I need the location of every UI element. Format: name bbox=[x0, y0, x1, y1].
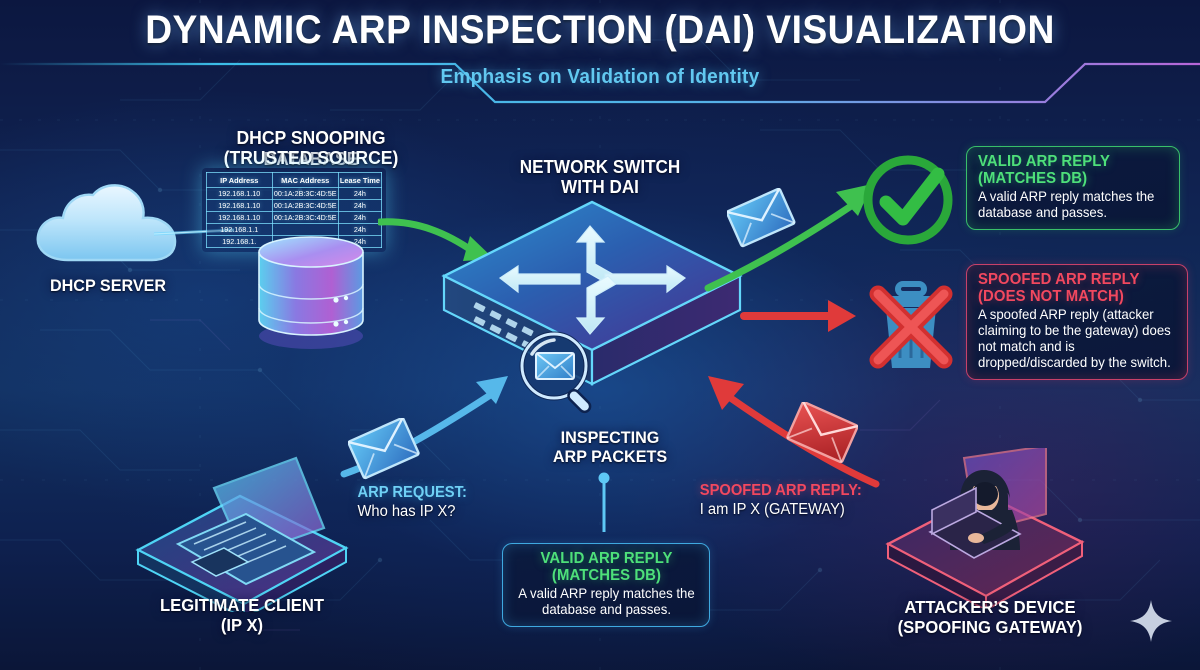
cell-mac: 00:1A:2B:3C:4D:5E bbox=[272, 200, 338, 212]
table-row: 192.168.1.10 00:1A:2B:3C:4D:5E 24h bbox=[207, 212, 382, 224]
green-check-circle-icon bbox=[856, 148, 960, 252]
client-label-line1: LEGITIMATE CLIENT bbox=[128, 596, 356, 616]
page-title: DYNAMIC ARP INSPECTION (DAI) VISUALIZATI… bbox=[42, 8, 1158, 53]
cell-ip: 192.168.1.10 bbox=[207, 212, 273, 224]
callout-spoofed-title-line1: SPOOFED ARP REPLY bbox=[978, 272, 1169, 289]
table-row: 192.168.1.10 00:1A:2B:3C:4D:5E 24h bbox=[207, 200, 382, 212]
dhcp-server-label: DHCP SERVER bbox=[17, 276, 199, 295]
table-row: 192.168.1.10 00:1A:2B:3C:4D:5E 24h bbox=[207, 188, 382, 200]
cell-lease: 24h bbox=[338, 200, 381, 212]
callout-valid-title-line2: (MATCHES DB) bbox=[978, 171, 1161, 188]
column-header-mac: MAC Address bbox=[272, 173, 338, 188]
database-cylinder-icon bbox=[256, 228, 366, 353]
infographic-canvas: DYNAMIC ARP INSPECTION (DAI) VISUALIZATI… bbox=[0, 0, 1200, 670]
callout-bottom-title-line1: VALID ARP REPLY bbox=[518, 551, 696, 568]
spoofed-reply-envelope-icon bbox=[786, 402, 858, 464]
sparkle-icon bbox=[1130, 600, 1172, 642]
client-label-line2: (IP X) bbox=[128, 616, 356, 636]
attacker-label-line1: ATTACKER’S DEVICE bbox=[867, 598, 1114, 618]
hacker-icon bbox=[880, 448, 1090, 608]
switch-label-line1: NETWORK SWITCH bbox=[477, 157, 724, 177]
arp-request-title: ARP REQUEST: bbox=[358, 484, 567, 501]
trash-red-x-icon bbox=[858, 272, 964, 378]
column-header-lease: Lease Time bbox=[338, 173, 381, 188]
cell-ip: 192.168.1.10 bbox=[207, 188, 273, 200]
column-header-ip: IP Address bbox=[207, 173, 273, 188]
callout-spoofed-title-line2: (DOES NOT MATCH) bbox=[978, 289, 1169, 306]
attacker-label-line2: (SPOOFING GATEWAY) bbox=[867, 618, 1114, 638]
cell-lease: 24h bbox=[338, 212, 381, 224]
callout-valid-title-line1: VALID ARP REPLY bbox=[978, 154, 1161, 171]
callout-bottom-body: A valid ARP reply matches the database a… bbox=[517, 586, 696, 618]
callout-valid-body: A valid ARP reply matches the database a… bbox=[978, 189, 1163, 221]
laptop-icon bbox=[128, 452, 358, 612]
page-subtitle: Emphasis on Validation of Identity bbox=[30, 66, 1170, 89]
callout-valid-arp-reply: VALID ARP REPLY (MATCHES DB) A valid ARP… bbox=[966, 146, 1180, 230]
callout-spoofed-body: A spoofed ARP reply (attacker claiming t… bbox=[978, 307, 1171, 371]
table-header-row: IP Address MAC Address Lease Time bbox=[207, 173, 382, 188]
subtitle-banner: Emphasis on Validation of Identity bbox=[0, 62, 1200, 104]
inspecting-connector-icon bbox=[596, 470, 616, 534]
valid-reply-envelope-icon bbox=[727, 188, 797, 248]
database-title-line2: (TRUSTED SOURCE) bbox=[192, 148, 430, 169]
callout-bottom-title-line2: (MATCHES DB) bbox=[518, 568, 696, 585]
arp-request-envelope-icon bbox=[348, 418, 420, 480]
callout-valid-arp-reply-bottom: VALID ARP REPLY (MATCHES DB) A valid ARP… bbox=[502, 543, 710, 627]
header: DYNAMIC ARP INSPECTION (DAI) VISUALIZATI… bbox=[0, 0, 1200, 104]
switch-to-drop-arrow-icon bbox=[740, 296, 860, 336]
cell-mac: 00:1A:2B:3C:4D:5E bbox=[272, 188, 338, 200]
cell-lease: 24h bbox=[338, 188, 381, 200]
cell-mac: 00:1A:2B:3C:4D:5E bbox=[272, 212, 338, 224]
cell-ip: 192.168.1.10 bbox=[207, 200, 273, 212]
callout-spoofed-arp-reply: SPOOFED ARP REPLY (DOES NOT MATCH) A spo… bbox=[966, 264, 1188, 380]
switch-label-line2: WITH DAI bbox=[477, 177, 724, 197]
arp-request-body: Who has IP X? bbox=[358, 503, 567, 520]
